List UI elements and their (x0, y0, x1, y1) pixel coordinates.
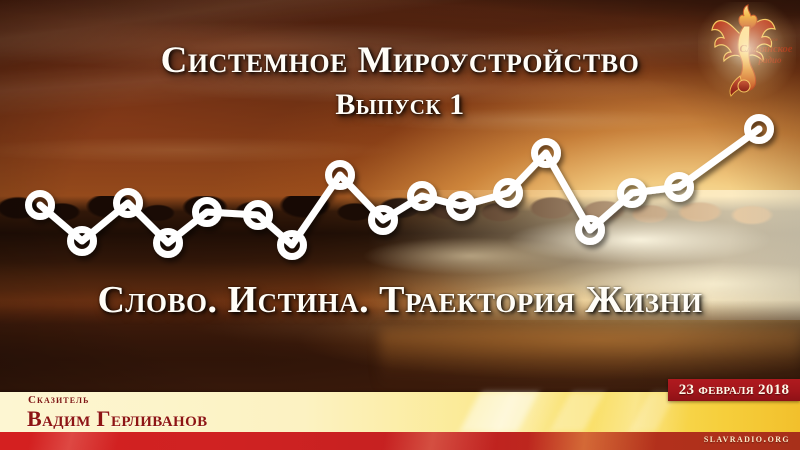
speaker-name: Вадим Герливанов (27, 406, 208, 432)
episode-subtitle: Выпуск 1 (0, 90, 800, 120)
page-title: Системное Мироустройство (0, 42, 800, 79)
poster-canvas: народное Славянское радио Системное Миро… (0, 0, 800, 450)
date-badge-label: 23 февраля 2018 (679, 382, 790, 399)
chart-line (40, 129, 759, 245)
main-headline: Слово. Истина. Траектория Жизни (0, 281, 800, 319)
chart-series (29, 118, 771, 257)
site-url[interactable]: slavradio.org (704, 433, 790, 445)
footer-swoosh-1 (459, 392, 538, 432)
footer-swoosh-2 (549, 392, 604, 432)
date-badge: 23 февраля 2018 (668, 379, 800, 401)
speaker-role-label: Сказитель (28, 394, 90, 406)
footer-red-bar (0, 432, 800, 450)
